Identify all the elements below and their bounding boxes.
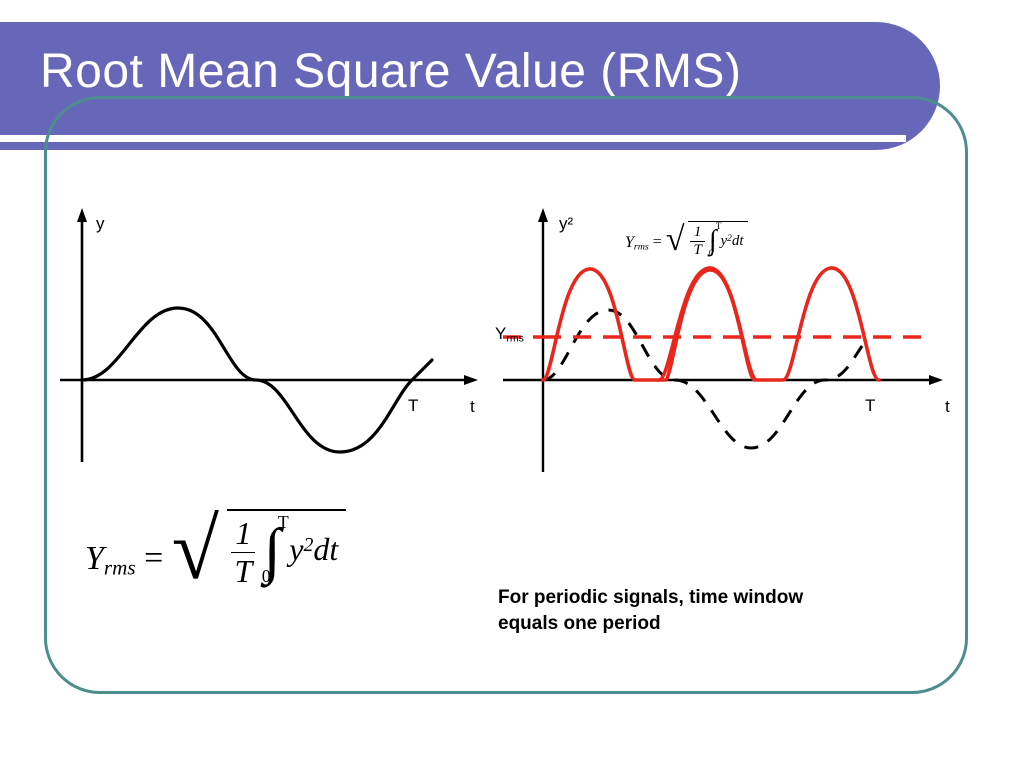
squared-curve-first-humps (543, 269, 755, 380)
formula-large-integrand-var: y (289, 531, 303, 567)
left-y-axis-label: y (96, 214, 105, 234)
right-x-axis-arrowhead (929, 375, 943, 385)
right-x-axis-label: t (945, 397, 950, 417)
formula-large-integral: T ∫ 0 (264, 527, 281, 577)
formula-large-integral-upper: T (278, 515, 289, 529)
formula-large-integrand-exp: 2 (303, 534, 313, 556)
formula-small-frac-den: T (690, 242, 704, 259)
formula-large-lhs: Yrms (85, 540, 136, 577)
formula-small-lhs-sub: rms (634, 241, 649, 252)
formula-small-frac-num: 1 (690, 224, 704, 242)
left-graph-svg (60, 200, 490, 475)
formula-large-differential: dt (313, 531, 338, 567)
formula-large-frac-num: 1 (231, 515, 255, 553)
formula-small-radical-sign: √ (666, 230, 685, 250)
formula-large-integral-lower: 0 (262, 569, 271, 583)
formula-large-frac-den: T (231, 553, 255, 590)
formula-small-fraction: 1 T (690, 224, 704, 259)
note-line-1: For periodic signals, time window (498, 585, 928, 611)
periodic-signal-note: For periodic signals, time window equals… (498, 585, 928, 636)
left-y-axis-arrowhead (77, 208, 87, 222)
formula-small-radicand: 1 T T ∫ 0 y2dt (688, 221, 747, 259)
rms-level-axis-label: Yrms (495, 324, 524, 345)
rms-formula-small: Yrms = √ 1 T T ∫ 0 y2dt (625, 224, 748, 262)
formula-large-integrand: y2dt (289, 531, 338, 567)
rms-label-main: Y (495, 324, 506, 343)
rms-label-sub: rms (506, 333, 524, 345)
page-title: Root Mean Square Value (RMS) (40, 44, 920, 99)
left-signal-graph: y t T (60, 200, 490, 475)
formula-small-lhs: Yrms (625, 234, 649, 251)
formula-large-radical-sign: √ (172, 526, 219, 573)
formula-small-lhs-var: Y (625, 234, 634, 251)
note-line-2: equals one period (498, 611, 928, 637)
right-y-axis-label-text: y² (559, 214, 573, 233)
formula-large-fraction: 1 T (231, 515, 255, 590)
formula-large-equals: = (144, 540, 163, 577)
left-x-axis-arrowhead (464, 375, 478, 385)
squared-curve-second-humps (659, 268, 879, 380)
right-period-label: T (865, 396, 875, 416)
formula-large-radicand: 1 T T ∫ 0 y2dt (227, 509, 346, 590)
formula-small-differential: dt (732, 233, 744, 249)
rms-formula-large: Yrms = √ 1 T T ∫ 0 y2dt (85, 520, 346, 602)
formula-small-integral-upper: T (716, 223, 722, 230)
formula-large-lhs-sub: rms (104, 555, 136, 579)
formula-small-integral: T ∫ 0 (709, 230, 717, 252)
left-x-axis-label: t (470, 397, 475, 417)
formula-large-lhs-var: Y (85, 540, 104, 577)
formula-small-radical: √ 1 T T ∫ 0 y2dt (666, 224, 748, 262)
right-y-axis-label: y² (559, 214, 573, 234)
left-period-label: T (408, 396, 418, 416)
right-y-axis-arrowhead (538, 208, 548, 222)
formula-large-radical: √ 1 T T ∫ 0 y2dt (172, 520, 347, 602)
formula-small-equals: = (653, 234, 662, 251)
formula-small-integrand: y2dt (721, 233, 744, 249)
formula-small-integral-lower: 0 (709, 250, 714, 257)
